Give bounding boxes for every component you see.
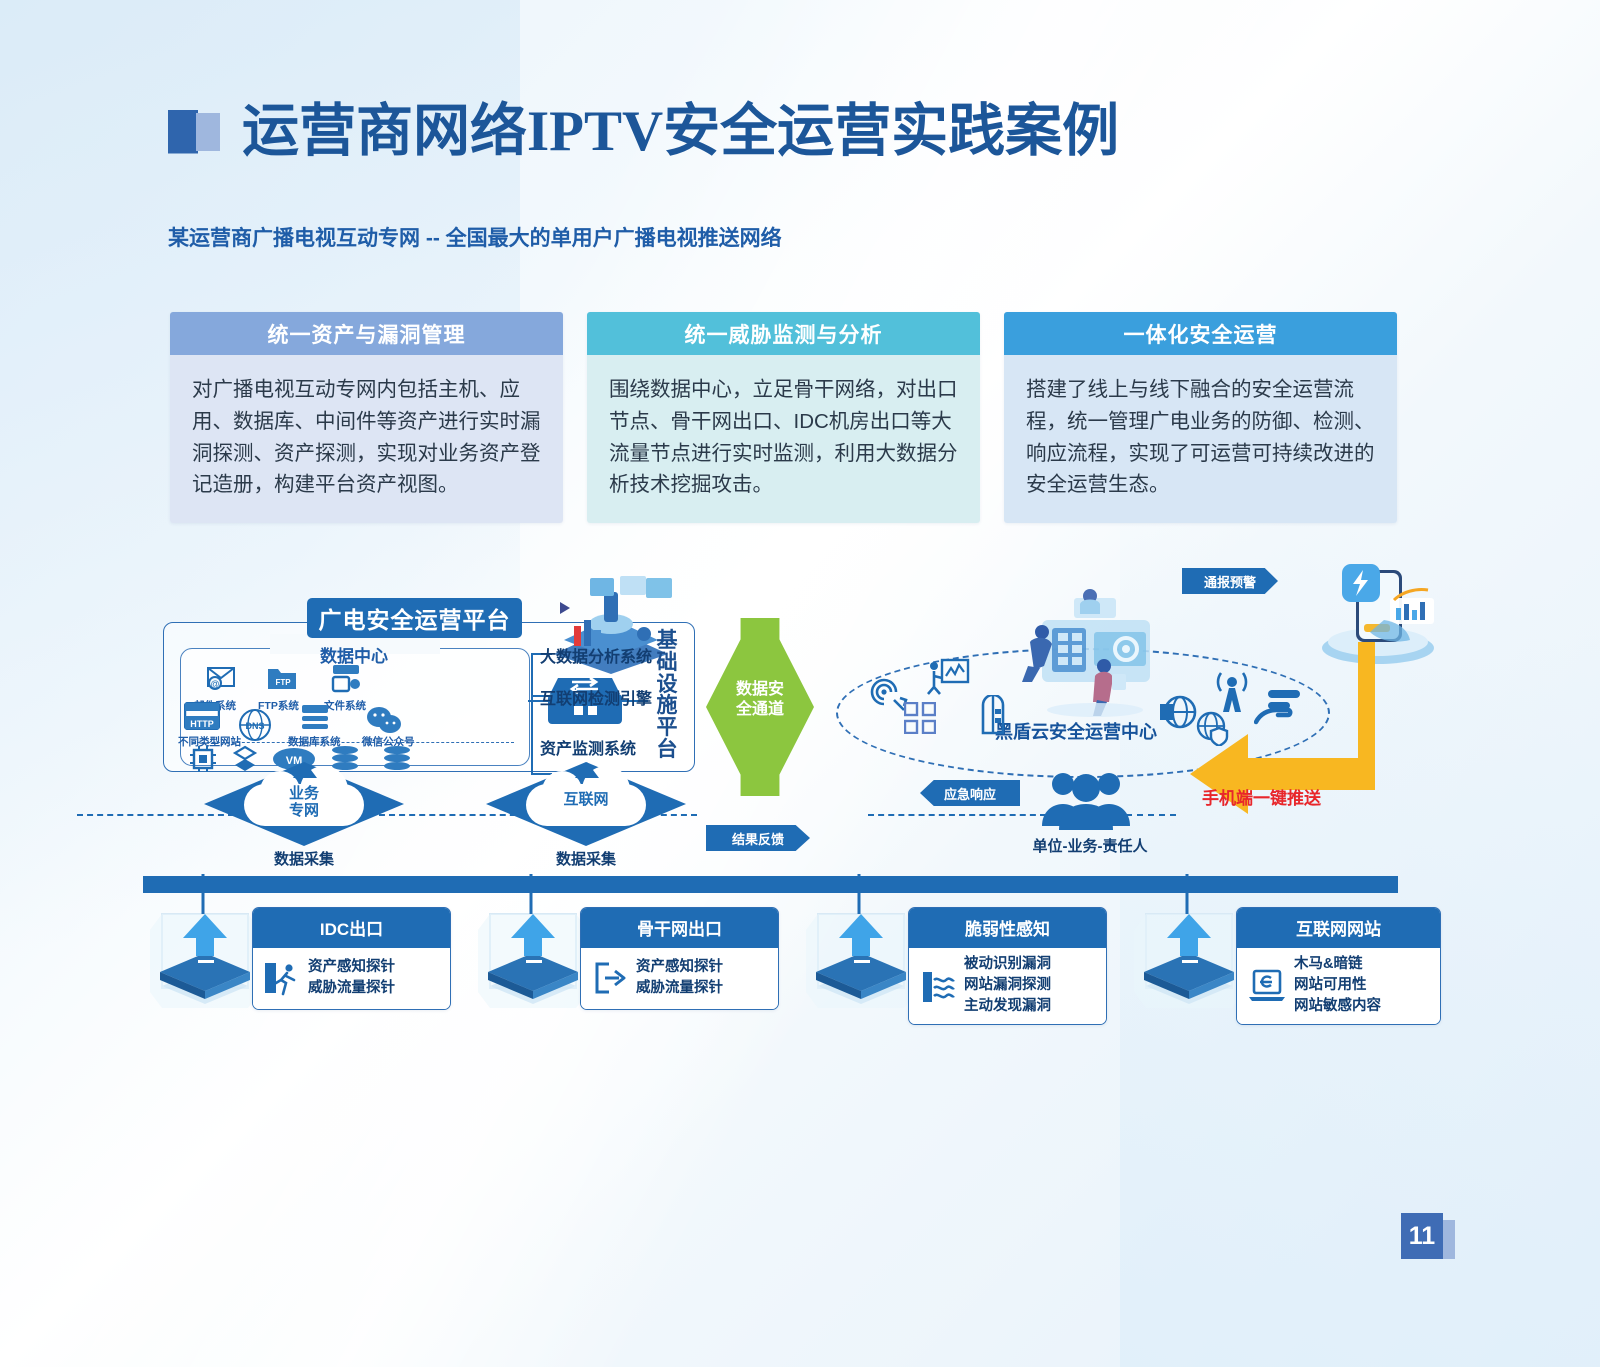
emergency-response-arrow: 应急响应	[920, 780, 1020, 806]
probe-card-backbone-title: 骨干网出口	[581, 908, 778, 948]
svg-text:@: @	[210, 679, 219, 689]
mobile-push-label-hi: 键推送	[1270, 789, 1321, 808]
probe-card-idc-title: IDC出口	[253, 908, 450, 948]
dns-icon: DNS	[238, 708, 272, 742]
emergency-response-label: 应急响应	[944, 784, 996, 803]
responsible-people-icon	[1040, 770, 1132, 830]
probe-pedestal-2	[468, 900, 598, 1020]
page-number-badge: 11	[1401, 1213, 1455, 1259]
feature-card-threat-header: 统一威胁监测与分析	[587, 312, 980, 355]
probe-card-website-title: 互联网网站	[1237, 908, 1440, 948]
probe-card-vulnerability-line-1: 被动识别漏洞	[964, 954, 1051, 975]
probe-card-row: IDC出口 资产感知探针 威胁流量探针 骨干网出口	[0, 898, 1600, 1018]
svg-text:HTTP: HTTP	[190, 719, 214, 729]
feature-card-row: 统一资产与漏洞管理 对广播电视互动专网内包括主机、应用、数据库、中间件等资产进行…	[170, 312, 1398, 523]
ftp-system-icon: FTP	[266, 664, 298, 692]
secure-data-channel-arrow: 数据安 全通道	[706, 618, 814, 796]
page-number-value: 11	[1401, 1213, 1443, 1259]
notify-alert-label: 通报预警	[1204, 572, 1256, 591]
private-network-cloud: 业务 专网 数据采集	[204, 762, 404, 846]
service-label-bigdata: 大数据分析系统	[540, 643, 652, 667]
feature-card-assets-body: 对广播电视互动专网内包括主机、应用、数据库、中间件等资产进行实时漏洞探测、资产探…	[170, 355, 563, 523]
database-system-icon	[300, 703, 330, 735]
probe-card-website-line-2: 网站可用性	[1294, 975, 1381, 996]
probe-card-idc: IDC出口 资产感知探针 威胁流量探针	[252, 907, 451, 1010]
probe-card-website: 互联网网站 木马&暗链 网站可用性 网站敏感内容	[1236, 907, 1441, 1025]
wechat-official-icon	[366, 705, 402, 735]
probe-card-idc-line-1: 资产感知探针	[308, 957, 395, 978]
feature-card-integrated-body: 搭建了线上与线下融合的安全运营流程，统一管理广电业务的防御、检测、响应流程，实现…	[1004, 355, 1397, 523]
http-website-icon: HTTP	[184, 702, 220, 730]
internet-cloud-sub: 数据采集	[486, 848, 686, 869]
notify-alert-arrow: 通报预警	[1182, 568, 1278, 594]
feature-card-threat: 统一威胁监测与分析 围绕数据中心，立足骨干网络，对出口节点、骨干网出口、IDC机…	[587, 312, 980, 523]
mail-system-icon: @	[206, 665, 236, 691]
service-label-internet-engine: 互联网检测引擎	[540, 685, 652, 709]
feature-card-integrated: 一体化安全运营 搭建了线上与线下融合的安全运营流程，统一管理广电业务的防御、检测…	[1004, 312, 1397, 523]
probe-card-idc-line-2: 威胁流量探针	[308, 978, 395, 999]
laptop-browser-icon	[1249, 969, 1285, 1003]
wave-dam-icon	[921, 968, 955, 1004]
feature-card-assets-header: 统一资产与漏洞管理	[170, 312, 563, 355]
probe-card-vulnerability-line-3: 主动发现漏洞	[964, 996, 1051, 1017]
mobile-push-label: 手机端一键推送	[1202, 784, 1321, 809]
infra-platform-label: 基础设施平台	[648, 630, 686, 761]
analyst-presentation-icon	[926, 658, 970, 710]
internet-cloud: 互联网 数据采集	[486, 762, 686, 846]
page-number-accent	[1441, 1220, 1455, 1259]
runner-exit-icon	[265, 960, 299, 996]
secure-channel-line2: 全通道	[706, 700, 814, 720]
probe-card-backbone-line-1: 资产感知探针	[636, 957, 723, 978]
probe-card-vulnerability-title: 脆弱性感知	[909, 908, 1106, 948]
probe-card-backbone-line-2: 威胁流量探针	[636, 978, 723, 999]
flag-bullet-icon	[168, 110, 220, 154]
bottom-collector-bar	[143, 876, 1398, 893]
probe-pedestal-3	[796, 900, 926, 1020]
platform-title: 广电安全运营平台	[307, 598, 522, 638]
feature-card-assets: 统一资产与漏洞管理 对广播电视互动专网内包括主机、应用、数据库、中间件等资产进行…	[170, 312, 563, 523]
bottom-dash-line-right	[868, 814, 1046, 816]
result-feedback-label: 结果反馈	[732, 829, 784, 848]
private-network-sub: 数据采集	[204, 848, 404, 869]
secure-channel-line1: 数据安	[706, 680, 814, 700]
svg-text:DNS: DNS	[245, 721, 264, 731]
svg-text:FTP: FTP	[275, 678, 291, 687]
probe-pedestal-1	[140, 900, 270, 1020]
private-network-line1: 业务	[204, 786, 404, 803]
probe-card-backbone: 骨干网出口 资产感知探针 威胁流量探针	[580, 907, 779, 1010]
feature-card-integrated-header: 一体化安全运营	[1004, 312, 1397, 355]
secure-server-icon	[975, 695, 1011, 737]
result-feedback-arrow: 结果反馈	[706, 825, 810, 851]
page-subtitle: 某运营商广播电视互动专网 -- 全国最大的单用户广播电视推送网络	[168, 222, 782, 252]
service-label-asset-monitor: 资产监测系统	[540, 735, 636, 759]
page-title: 运营商网络IPTV安全运营实践案例	[242, 103, 1119, 160]
mobile-push-label-pre: 手机端一	[1202, 789, 1270, 808]
probe-pedestal-4	[1124, 900, 1254, 1020]
feature-card-threat-body: 围绕数据中心，立足骨干网络，对出口节点、骨干网出口、IDC机房出口等大流量节点进…	[587, 355, 980, 523]
private-network-line2: 专网	[204, 803, 404, 820]
bottom-dash-line-right2	[1126, 814, 1176, 816]
internet-cloud-line1: 互联网	[486, 792, 686, 809]
responsible-label: 单位-业务-责任人	[1010, 835, 1170, 856]
probe-card-website-line-1: 木马&暗链	[1294, 954, 1381, 975]
file-system-label: 文件系统	[324, 698, 366, 713]
probe-card-vulnerability: 脆弱性感知 被动识别漏洞 网站漏洞探测 主动发现漏洞	[908, 907, 1107, 1025]
soc-name-label: 黑盾云安全运营中心	[995, 718, 1157, 744]
file-system-icon	[331, 663, 361, 693]
page-header: 运营商网络IPTV安全运营实践案例	[168, 103, 1119, 160]
export-arrow-icon	[593, 961, 627, 995]
probe-card-website-line-3: 网站敏感内容	[1294, 996, 1381, 1017]
probe-card-vulnerability-line-2: 网站漏洞探测	[964, 975, 1051, 996]
